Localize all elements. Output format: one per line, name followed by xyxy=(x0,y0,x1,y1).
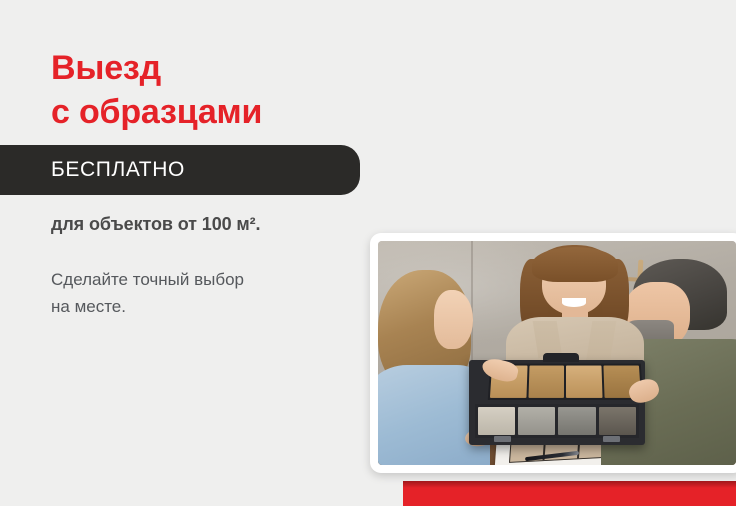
smile xyxy=(562,298,586,307)
red-accent-bar xyxy=(403,481,736,506)
photo-card xyxy=(370,233,736,473)
status-badge: БЕСПЛАТНО xyxy=(0,145,360,195)
case-handle xyxy=(543,353,579,362)
promo-banner: Выезд с образцами БЕСПЛАТНО для объектов… xyxy=(0,0,736,506)
subheading: для объектов от 100 м². xyxy=(51,212,260,236)
case-latch-right xyxy=(603,436,620,442)
consultation-photo xyxy=(378,241,736,465)
face xyxy=(434,290,473,349)
body-text: Сделайте точный выбор на месте. xyxy=(51,266,244,320)
hair-front xyxy=(532,247,618,282)
badge-label: БЕСПЛАТНО xyxy=(51,157,185,183)
page-title: Выезд с образцами xyxy=(51,46,262,134)
case-tray-swatches xyxy=(475,404,640,438)
case-latch-left xyxy=(494,436,511,442)
